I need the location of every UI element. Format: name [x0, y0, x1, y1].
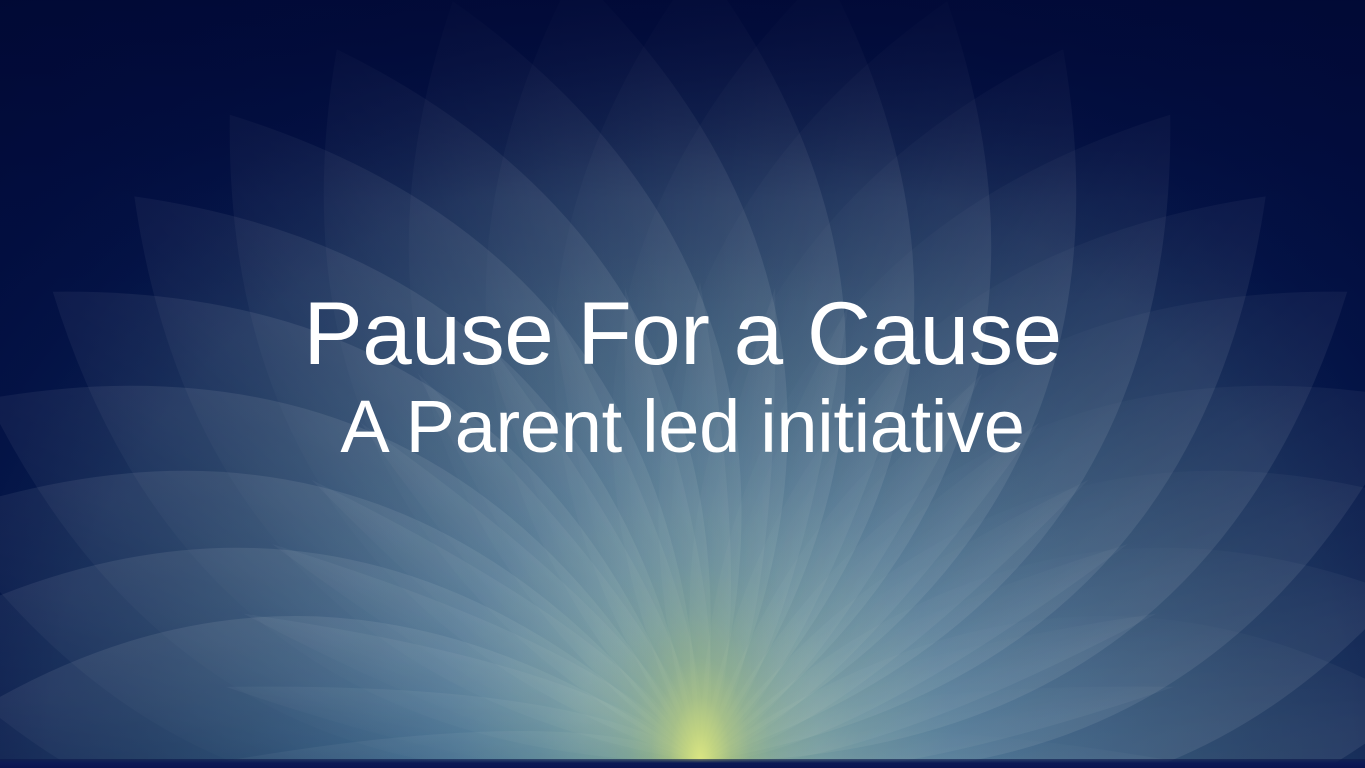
footer-band — [0, 759, 1365, 768]
page-title: Pause For a Cause — [0, 286, 1365, 380]
title-text-block: Pause For a Cause A Parent led initiativ… — [0, 286, 1365, 467]
page-subtitle: A Parent led initiative — [0, 388, 1365, 466]
title-slide: Pause For a Cause A Parent led initiativ… — [0, 0, 1365, 768]
